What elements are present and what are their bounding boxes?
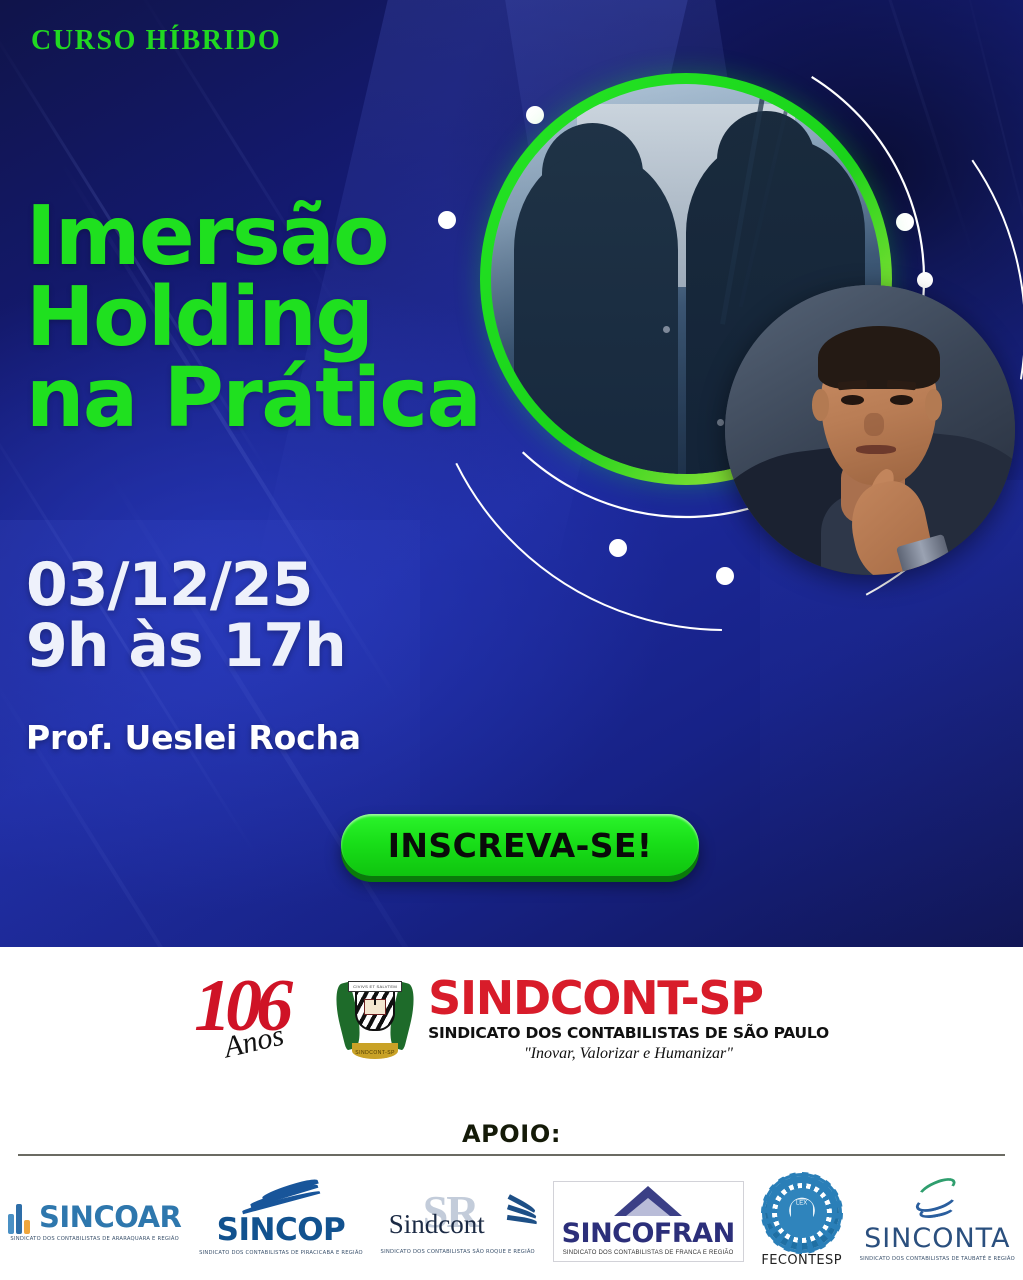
support-label: APOIO: [0, 1120, 1023, 1148]
organizer-slogan: "Inovar, Valorizar e Humanizar" [428, 1045, 829, 1063]
sponsor-name: SINCONTA [864, 1223, 1010, 1254]
circle-composition [425, 40, 1023, 660]
sponsor-subtitle: SINDICATO DOS CONTABILISTAS DE PIRACICAB… [199, 1250, 363, 1257]
speaker-name: Prof. Ueslei Rocha [26, 718, 361, 757]
divider [18, 1154, 1005, 1156]
sponsor-name: SINCOP [217, 1212, 346, 1248]
sponsor-name: SINCOFRAN [562, 1218, 735, 1249]
sponsor-logo-sincofran: SINCOFRAN SINDICATO DOS CONTABILISTAS DE… [553, 1181, 744, 1262]
sindcont-fan-icon [503, 1201, 537, 1233]
fecontesp-seal-icon: LEX [765, 1176, 839, 1250]
sinconta-swirl-icon [911, 1179, 963, 1221]
page-title: Imersão Holding na Prática [26, 196, 480, 440]
sponsor-logo-fecontesp: LEX FECONTESP [761, 1176, 842, 1268]
seal-tablet-text: LEX [791, 1199, 813, 1225]
sincop-swoosh-icon [235, 1185, 327, 1211]
sincofran-triangle-icon [614, 1186, 682, 1216]
sponsor-subtitle: SINDICATO DOS CONTABILISTAS SÃO ROQUE E … [381, 1249, 535, 1256]
event-time: 9h às 17h [26, 616, 346, 677]
event-flyer: CURSO HÍBRIDO Imersão Holding na Prática… [0, 0, 1023, 1280]
sponsor-subtitle: SINDICATO DOS CONTABILISTAS DE ARARAQUAR… [10, 1236, 179, 1243]
sponsor-name: FECONTESP [761, 1253, 842, 1268]
event-datetime: 03/12/25 9h às 17h [26, 555, 346, 677]
event-date: 03/12/25 [26, 555, 346, 616]
sponsor-name: SINCOAR [39, 1200, 181, 1234]
sponsor-logo-sindcont-sr: SR Sindcont SINDICATO DOS CONTABILISTAS … [381, 1187, 535, 1256]
title-line-3: na Prática [26, 358, 480, 439]
organizer-subtitle: SINDICATO DOS CONTABILISTAS DE SÃO PAULO [428, 1024, 829, 1042]
anniversary-badge: 106 Anos [194, 969, 322, 1069]
sponsor-logo-sincop: SINCOP SINDICATO DOS CONTABILISTAS DE PI… [199, 1185, 363, 1257]
organizer-brand-text: SINDCONT-SP SINDICATO DOS CONTABILISTAS … [428, 975, 829, 1063]
speaker-portrait [725, 285, 1015, 575]
title-line-1: Imersão [26, 196, 480, 277]
sponsor-logo-sincoar: SINCOAR SINDICATO DOS CONTABILISTAS DE A… [8, 1200, 181, 1243]
sponsor-name: Sindcont [389, 1209, 485, 1240]
sindcont-crest-icon: CIVIVS ET SALVTEM SINDCONT-SP [336, 969, 414, 1069]
hero-section: CURSO HÍBRIDO Imersão Holding na Prática… [0, 0, 1023, 947]
course-format-kicker: CURSO HÍBRIDO [31, 25, 281, 57]
sponsor-logo-row: SINCOAR SINDICATO DOS CONTABILISTAS DE A… [0, 1169, 1023, 1274]
organizer-brand-row: 106 Anos CIVIVS ET SALVTEM SINDCONT-SP S… [0, 969, 1023, 1069]
organizer-name: SINDCONT-SP [428, 975, 829, 1022]
register-button[interactable]: INSCREVA-SE! [341, 814, 699, 876]
crest-foot-text: SINDCONT-SP [352, 1043, 398, 1059]
crest-band-text: CIVIVS ET SALVTEM [348, 981, 402, 992]
sponsor-subtitle: SINDICATO DOS CONTABILISTAS DE TAUBATÉ E… [860, 1256, 1015, 1263]
sponsor-logo-sinconta: SINCONTA SINDICATO DOS CONTABILISTAS DE … [860, 1179, 1015, 1263]
sponsor-subtitle: SINDICATO DOS CONTABILISTAS DE FRANCA E … [563, 1250, 734, 1256]
title-line-2: Holding [26, 277, 480, 358]
sincoar-bars-icon [8, 1200, 34, 1234]
footer-section: 106 Anos CIVIVS ET SALVTEM SINDCONT-SP S… [0, 947, 1023, 1280]
